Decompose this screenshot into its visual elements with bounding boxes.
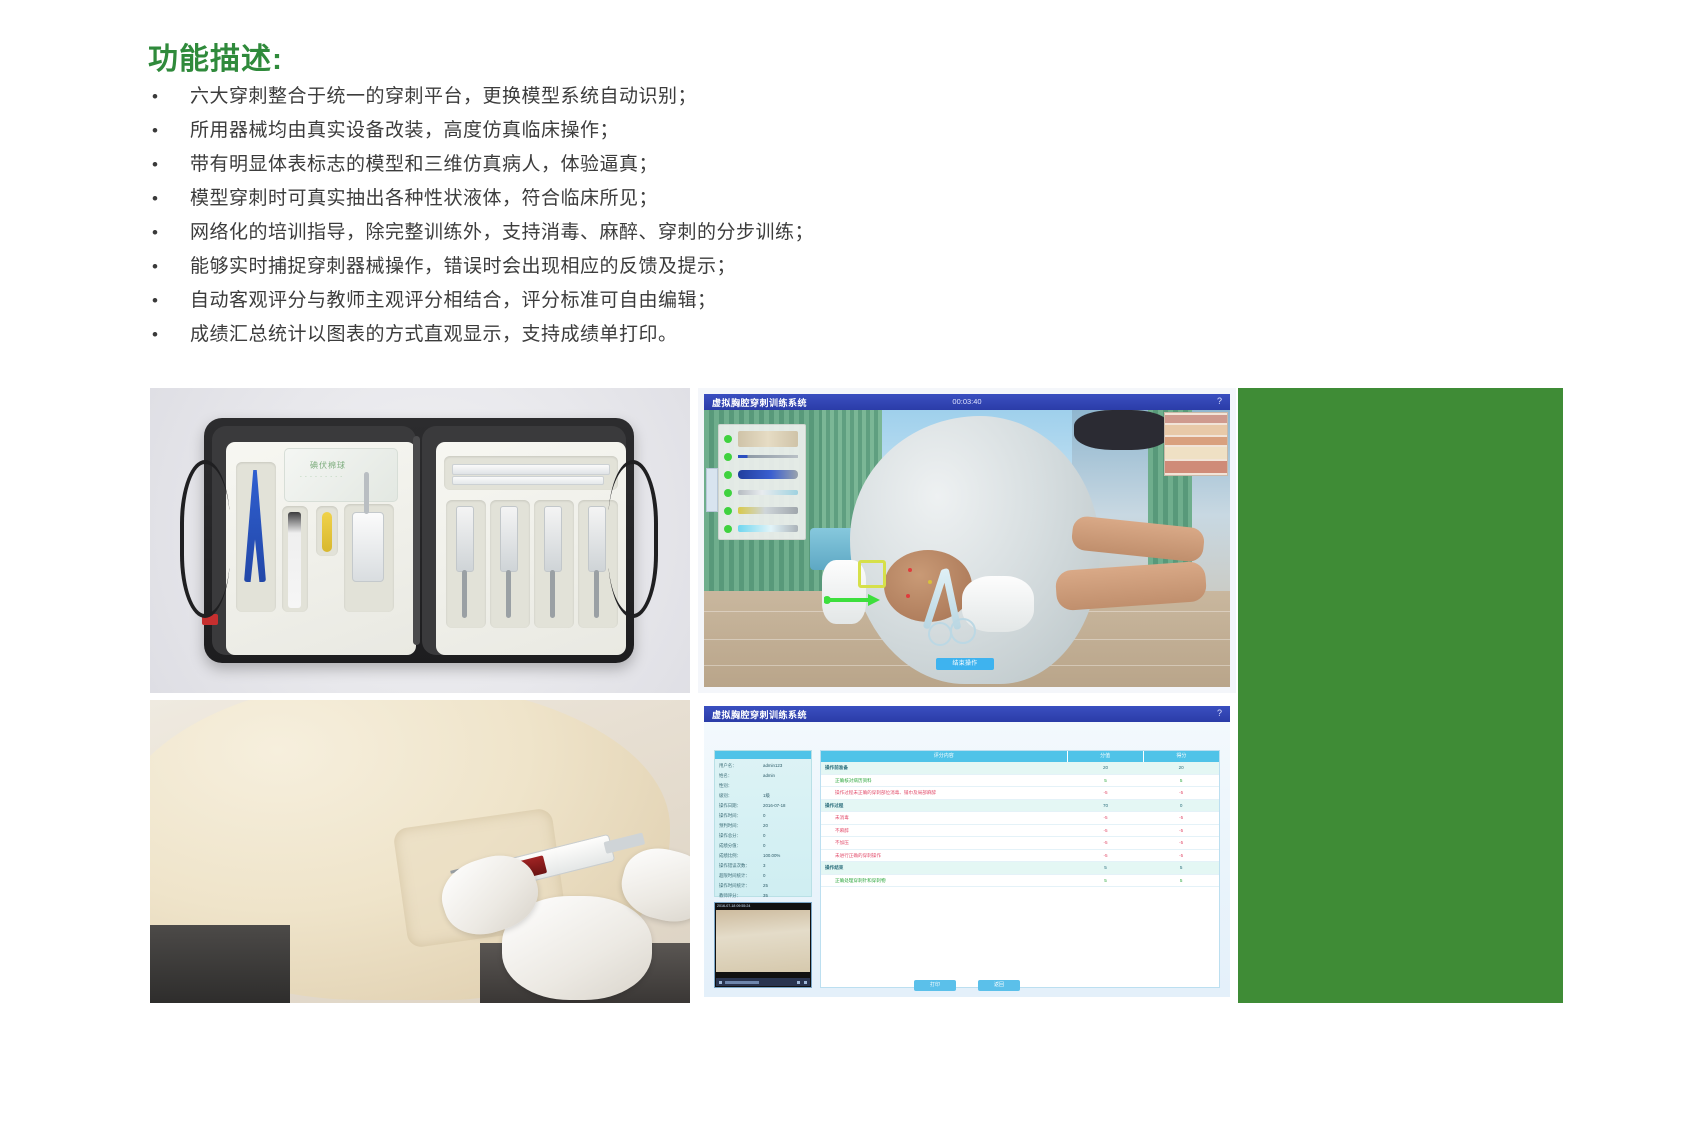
list-item: • 模型穿刺时可真实抽出各种性状液体，符合临床所见；	[148, 182, 1048, 216]
needle	[364, 472, 369, 514]
info-label: 操作时间：	[719, 813, 741, 819]
puncture-handle	[588, 506, 606, 572]
info-value: 0	[763, 833, 765, 838]
row-score: 5	[1068, 862, 1144, 874]
table-row: 未消毒 -5 -5	[821, 812, 1219, 825]
sim-3d-viewport[interactable]: 结束操作	[704, 410, 1230, 687]
info-label: 操作时间统计：	[719, 883, 750, 889]
green-guidance-arrow	[824, 592, 880, 608]
info-row: 姓名：admin	[719, 773, 809, 783]
row-got: -5	[1143, 850, 1219, 862]
list-item: • 所用器械均由真实设备改装，高度仿真临床操作；	[148, 114, 1048, 148]
video-playback-panel[interactable]: 2016-07-18 09:55:24	[714, 902, 812, 988]
forceps-icon	[738, 470, 798, 479]
row-got: -5	[1143, 787, 1219, 799]
feature-list: • 六大穿刺整合于统一的穿刺平台，更换模型系统自动识别； • 所用器械均由真实设…	[148, 80, 1048, 352]
list-item-label: 模型穿刺时可真实抽出各种性状液体，符合临床所见；	[190, 182, 658, 216]
column-header-got: 得分	[1144, 751, 1219, 762]
anatomy-reference-panel	[1164, 412, 1228, 476]
bullet-icon: •	[148, 80, 190, 114]
list-item: • 能够实时捕捉穿刺器械操作，错误时会出现相应的反馈及提示；	[148, 250, 1048, 284]
status-dot	[724, 471, 732, 479]
report-window: 虚拟胸腔穿刺训练系统 ? 用户名：admin123 姓名：admin 性别： 级…	[698, 700, 1236, 1003]
help-icon[interactable]: ?	[1217, 708, 1222, 718]
report-app-title: 虚拟胸腔穿刺训练系统	[712, 708, 807, 721]
info-label: 级别：	[719, 793, 732, 799]
row-content: 操作过程未正确的穿刺部位消毒、铺巾及局部麻醉	[821, 787, 1068, 799]
bullet-icon: •	[148, 284, 190, 318]
case-handle-right	[608, 460, 658, 618]
report-action-bar: 打印 返回	[704, 980, 1230, 991]
row-got: 5	[1143, 862, 1219, 874]
user-info-card: 用户名：admin123 姓名：admin 性别： 级别：1级 操作日期：201…	[714, 750, 812, 897]
info-value: admin	[763, 773, 775, 778]
print-button[interactable]: 打印	[914, 980, 956, 991]
case-handle-left	[180, 460, 230, 618]
table-edge-left	[150, 925, 290, 1003]
sim-timer: 00:03:40	[952, 397, 981, 406]
row-content: 操作结束	[821, 862, 1068, 874]
info-value: 0	[763, 813, 765, 818]
row-score: -5	[1068, 850, 1144, 862]
list-item-label: 自动客观评分与教师主观评分相结合，评分标准可自由编辑；	[190, 284, 717, 318]
info-label: 姓名：	[719, 773, 732, 779]
finish-operation-button[interactable]: 结束操作	[936, 658, 994, 670]
needle	[506, 570, 511, 618]
row-content: 操作前准备	[821, 762, 1068, 774]
info-row: 成绩分值：0	[719, 843, 809, 853]
tool-item[interactable]	[724, 519, 800, 539]
info-value: 20	[763, 823, 768, 828]
sim-app-title: 虚拟胸腔穿刺训练系统	[712, 396, 807, 409]
case-hinge	[413, 436, 420, 645]
scalpel-icon	[738, 507, 798, 514]
red-landmark-dot	[906, 594, 910, 598]
info-label: 操作总分：	[719, 833, 741, 839]
row-score: 5	[1068, 875, 1144, 887]
list-item: • 自动客观评分与教师主观评分相结合，评分标准可自由编辑；	[148, 284, 1048, 318]
needle	[462, 570, 467, 618]
page-title: 功能描述:	[148, 34, 283, 78]
info-row: 性别：	[719, 783, 809, 793]
case-shell: 碘伏棉球 - - - - - - - - -	[204, 418, 634, 663]
info-value: 1级	[763, 793, 770, 799]
scissor-ring	[928, 622, 952, 646]
table-row: 操作前准备 20 20	[821, 762, 1219, 775]
photo-instrument-case: 碘伏棉球 - - - - - - - - -	[150, 388, 690, 693]
info-value: 25	[763, 883, 768, 888]
info-value: 0	[763, 873, 765, 878]
row-content: 未消毒	[821, 812, 1068, 824]
row-content: 不麻醉	[821, 825, 1068, 837]
row-score: 5	[1068, 775, 1144, 787]
puncture-handle	[500, 506, 518, 572]
info-row: 预判时间：20	[719, 823, 809, 833]
list-item: • 六大穿刺整合于统一的穿刺平台，更换模型系统自动识别；	[148, 80, 1048, 114]
info-label: 性别：	[719, 783, 732, 789]
row-content: 操作过程	[821, 800, 1068, 812]
table-row: 不加压 -5 -5	[821, 837, 1219, 850]
syringe-icon	[738, 525, 798, 532]
yellow-target-box	[858, 560, 886, 588]
row-got: -5	[1143, 812, 1219, 824]
package-label: 碘伏棉球	[310, 460, 346, 471]
puncture-needle-icon	[738, 490, 798, 495]
video-timestamp: 2016-07-18 09:55:24	[717, 904, 809, 910]
info-value: 35	[763, 893, 768, 898]
table-row: 操作过程 70 0	[821, 800, 1219, 813]
screenshot-simulation-ui: 虚拟胸腔穿刺训练系统 00:03:40 ?	[698, 388, 1236, 693]
case-base	[422, 426, 626, 655]
photo-manikin-puncture	[150, 700, 690, 1003]
row-got: 5	[1143, 875, 1219, 887]
row-score: -5	[1068, 825, 1144, 837]
patient-head	[1074, 410, 1170, 450]
table-row: 操作过程未正确的穿刺部位消毒、铺巾及局部麻醉 -5 -5	[821, 787, 1219, 800]
info-label: 操作错误次数：	[719, 863, 750, 869]
info-value: 2016-07-18	[763, 803, 785, 808]
needle	[594, 570, 599, 618]
sim-side-tab[interactable]	[706, 468, 718, 512]
sim-window: 虚拟胸腔穿刺训练系统 00:03:40 ?	[698, 388, 1236, 693]
report-titlebar: 虚拟胸腔穿刺训练系统 ?	[704, 706, 1230, 722]
status-dot	[724, 453, 732, 461]
row-got: -5	[1143, 837, 1219, 849]
status-dot	[724, 525, 732, 533]
row-score: -5	[1068, 837, 1144, 849]
list-item-label: 网络化的培训指导，除完整训练外，支持消毒、麻醉、穿刺的分步训练；	[190, 216, 814, 250]
info-value: 3	[763, 863, 765, 868]
info-row: 成绩比例：100.00%	[719, 853, 809, 863]
return-button[interactable]: 返回	[978, 980, 1020, 991]
bullet-icon: •	[148, 182, 190, 216]
report-body: 用户名：admin123 姓名：admin 性别： 级别：1级 操作日期：201…	[704, 722, 1230, 997]
info-value: 0	[763, 843, 765, 848]
table-row: 正确核对病历资料 5 5	[821, 775, 1219, 788]
table-header-row: 评分内容 分值 得分	[821, 751, 1219, 762]
puncture-handle	[456, 506, 474, 572]
red-landmark-dot	[908, 568, 912, 572]
case-tray-left: 碘伏棉球 - - - - - - - - -	[226, 442, 416, 655]
info-row: 操作时间统计：25	[719, 883, 809, 893]
row-content: 不加压	[821, 837, 1068, 849]
list-item-label: 能够实时捕捉穿刺器械操作，错误时会出现相应的反馈及提示；	[190, 250, 736, 284]
row-score: -5	[1068, 787, 1144, 799]
info-row: 操作错误次数：3	[719, 863, 809, 873]
yellow-landmark-dot	[928, 580, 932, 584]
table-row: 不麻醉 -5 -5	[821, 825, 1219, 838]
row-got: 0	[1143, 800, 1219, 812]
long-syringe	[452, 464, 610, 475]
list-item-label: 所用器械均由真实设备改装，高度仿真临床操作；	[190, 114, 619, 148]
column-header-score: 分值	[1068, 751, 1144, 762]
score-table: 评分内容 分值 得分 操作前准备 20 20 正确核对病历资料 5 5 操作过程…	[820, 750, 1220, 988]
info-value: admin123	[763, 763, 782, 768]
bullet-icon: •	[148, 250, 190, 284]
syringe-tool	[352, 512, 384, 582]
info-label: 超限时间统计：	[719, 873, 750, 879]
info-row: 用户名：admin123	[719, 763, 809, 773]
row-got: 5	[1143, 775, 1219, 787]
info-label: 操作日期：	[719, 803, 741, 809]
patient-torso[interactable]	[850, 416, 1100, 684]
tool-item[interactable]	[724, 501, 800, 521]
info-label: 用户名：	[719, 763, 737, 769]
row-got: 20	[1143, 762, 1219, 774]
tool-item[interactable]	[724, 429, 800, 449]
list-item: • 带有明显体表标志的模型和三维仿真病人，体验逼真；	[148, 148, 1048, 182]
row-content: 未进行正确的穿刺操作	[821, 850, 1068, 862]
tool-tray-icon	[738, 431, 798, 447]
info-row: 超限时间统计：0	[719, 873, 809, 883]
yellow-vial	[322, 512, 332, 552]
needle	[550, 570, 555, 618]
tool-item[interactable]	[724, 483, 800, 503]
screenshot-report-ui: 虚拟胸腔穿刺训练系统 ? 用户名：admin123 姓名：admin 性别： 级…	[698, 700, 1236, 1003]
long-syringe	[452, 476, 604, 485]
status-dot	[724, 435, 732, 443]
tool-item[interactable]	[724, 465, 800, 485]
info-label: 成绩比例：	[719, 853, 741, 859]
info-row: 级别：1级	[719, 793, 809, 803]
tool-palette[interactable]	[718, 424, 806, 540]
video-frame	[716, 910, 810, 972]
probe-needle-icon	[738, 455, 798, 458]
row-score: 20	[1068, 762, 1144, 774]
info-label: 成绩分值：	[719, 843, 741, 849]
info-row: 操作总分：0	[719, 833, 809, 843]
info-row: 操作时间：0	[719, 813, 809, 823]
row-got: -5	[1143, 825, 1219, 837]
bullet-icon: •	[148, 318, 190, 352]
row-content: 正确核对病历资料	[821, 775, 1068, 787]
scissor-ring	[950, 618, 976, 644]
bullet-icon: •	[148, 216, 190, 250]
list-item-label: 成绩汇总统计以图表的方式直观显示，支持成绩单打印。	[190, 318, 678, 352]
tool-item[interactable]	[724, 447, 800, 467]
info-label: 教师评分：	[719, 893, 741, 899]
case-tray-right	[436, 442, 626, 655]
list-item-label: 带有明显体表标志的模型和三维仿真病人，体验逼真；	[190, 148, 658, 182]
marker-pen	[288, 512, 301, 608]
status-dot	[724, 489, 732, 497]
info-value: 100.00%	[763, 853, 780, 858]
list-item-label: 六大穿刺整合于统一的穿刺平台，更换模型系统自动识别；	[190, 80, 697, 114]
table-row: 未进行正确的穿刺操作 -5 -5	[821, 850, 1219, 863]
row-score: 70	[1068, 800, 1144, 812]
bullet-icon: •	[148, 114, 190, 148]
bullet-icon: •	[148, 148, 190, 182]
status-dot	[724, 507, 732, 515]
table-row: 操作结束 5 5	[821, 862, 1219, 875]
info-card-header	[715, 751, 811, 759]
table-row: 正确处理穿刺针和穿刺物 5 5	[821, 875, 1219, 888]
info-label: 预判时间：	[719, 823, 741, 829]
info-row: 操作日期：2016-07-18	[719, 803, 809, 813]
column-header-content: 评分内容	[821, 751, 1068, 762]
row-score: -5	[1068, 812, 1144, 824]
puncture-handle	[544, 506, 562, 572]
list-item: • 网络化的培训指导，除完整训练外，支持消毒、麻醉、穿刺的分步训练；	[148, 216, 1048, 250]
help-icon[interactable]: ?	[1217, 396, 1222, 406]
decorative-green-block	[1238, 388, 1563, 1003]
list-item: • 成绩汇总统计以图表的方式直观显示，支持成绩单打印。	[148, 318, 1048, 352]
case-lid: 碘伏棉球 - - - - - - - - -	[212, 426, 416, 655]
sim-titlebar: 虚拟胸腔穿刺训练系统 00:03:40 ?	[704, 394, 1230, 410]
row-content: 正确处理穿刺针和穿刺物	[821, 875, 1068, 887]
